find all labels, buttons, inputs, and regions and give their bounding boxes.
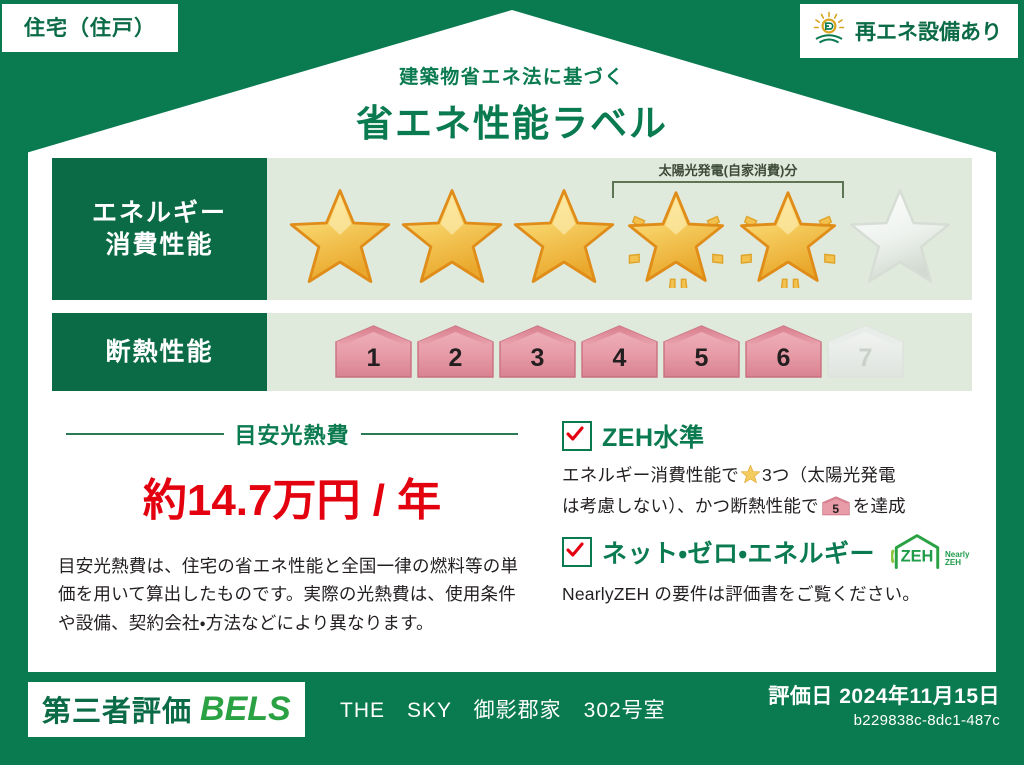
zeh-body-part1: エネルギー消費性能で [562, 465, 739, 485]
evaluation-id: b229838c-8dc1-487c [768, 712, 1000, 729]
evaluation-date: 評価日 2024年11月15日 [768, 680, 1000, 710]
star-rating [285, 170, 955, 288]
lower-content: 目安光熱費 約14.7万円 / 年 目安光熱費は、住宅の省エネ性能と全国一律の燃… [52, 418, 972, 637]
insulation-performance-row: 断熱性能 [52, 313, 972, 391]
bels-logo: 第三者評価 BELS [28, 682, 305, 737]
star-6-empty [845, 184, 955, 288]
check-icon [562, 421, 592, 451]
insulation-grade-7-number: 7 [826, 344, 905, 373]
star-4-filled-solar [621, 184, 731, 288]
zeh-nearly-logo: ZEH Nearly ZEH [891, 533, 969, 571]
cost-heading-label: 目安光熱費 [235, 418, 350, 450]
bels-jp-label: 第三者評価 [42, 688, 192, 730]
insulation-grade-6: 6 [744, 324, 823, 380]
insulation-grade-7-inactive: 7 [826, 324, 905, 380]
footer: 第三者評価 BELS THE SKY 御影郡家 302号室 評価日 2024年1… [0, 672, 1024, 765]
cost-value: 約14.7万円 / 年 [52, 464, 532, 528]
zeh-standard-body: エネルギー消費性能で 3つ（太陽光発電 は考慮しない）、かつ断熱性能で 5 を達… [562, 461, 972, 521]
label-frame: 住宅（住戸） 再エネ設備あり 建築 [0, 0, 1024, 765]
inline-house-badge-icon: 5 [822, 496, 850, 516]
insulation-grade-4-number: 4 [580, 344, 659, 373]
housing-type-tag: 住宅（住戸） [2, 4, 178, 52]
zeh-logo-sub: Nearly ZEH [945, 551, 969, 571]
renewable-badge-label: 再エネ設備あり [855, 16, 1002, 46]
insulation-grade-5-number: 5 [662, 344, 741, 373]
energy-stars-area: 太陽光発電(自家消費)分 [267, 158, 972, 300]
cost-heading-rule-right [361, 433, 519, 435]
label-subtitle: 建築物省エネ法に基づく [0, 62, 1024, 89]
net-zero-title: ネット・ゼロ・エネルギー [602, 534, 875, 570]
insulation-grade-3: 3 [498, 324, 577, 380]
insulation-performance-label: 断熱性能 [52, 313, 267, 391]
evaluation-info: 評価日 2024年11月15日 b229838c-8dc1-487c [768, 680, 1000, 729]
building-name: THE SKY 御影郡家 302号室 [340, 694, 666, 724]
zeh-body-part2: は考慮しない）、かつ断熱性能で [562, 496, 819, 516]
net-zero-heading: ネット・ゼロ・エネルギー ZEH Nearly ZEH [562, 533, 972, 571]
insulation-grade-5: 5 [662, 324, 741, 380]
page-title: 省エネ性能ラベル [0, 93, 1024, 147]
net-zero-body: NearlyZEH の要件は評価書をご覧ください。 [562, 580, 972, 608]
star-5-filled-solar [733, 184, 843, 288]
net-zero-energy-item: ネット・ゼロ・エネルギー ZEH Nearly ZEH NearlyZEH [562, 533, 972, 608]
star-2-filled [397, 184, 507, 288]
insulation-grade-3-number: 3 [498, 344, 577, 373]
energy-performance-row: エネルギー 消費性能 [52, 158, 972, 300]
insulation-grade-2-number: 2 [416, 344, 495, 373]
insulation-grade-4: 4 [580, 324, 659, 380]
inline-star-icon [740, 464, 761, 492]
insulation-grade-6-number: 6 [744, 344, 823, 373]
zeh-standard-item: ZEH水準 エネルギー消費性能で 3つ（太陽光発電 は考慮しない）、かつ断熱性能… [562, 418, 972, 521]
rating-rows: エネルギー 消費性能 [52, 158, 972, 404]
title-block: 建築物省エネ法に基づく 省エネ性能ラベル [0, 62, 1024, 147]
energy-performance-label: エネルギー 消費性能 [52, 158, 267, 300]
cost-note: 目安光熱費は、住宅の省エネ性能と全国一律の燃料等の単価を用いて算出したものです。… [52, 552, 532, 637]
zeh-standard-heading: ZEH水準 [562, 418, 972, 454]
check-icon [562, 537, 592, 567]
bels-en-label: BELS [200, 690, 291, 729]
housing-type-label: 住宅（住戸） [24, 17, 156, 40]
svg-text:ZEH: ZEH [901, 547, 934, 565]
zeh-body-stars: 3つ（太陽光発電 [762, 465, 896, 485]
cost-column: 目安光熱費 約14.7万円 / 年 目安光熱費は、住宅の省エネ性能と全国一律の燃… [52, 418, 532, 637]
solar-sun-icon [812, 11, 846, 50]
zeh-standard-title: ZEH水準 [602, 418, 705, 454]
insulation-grade-2: 2 [416, 324, 495, 380]
insulation-grade-1: 1 [334, 324, 413, 380]
insulation-grades-area: 1 2 3 [267, 313, 972, 391]
renewable-equipment-badge: 再エネ設備あり [800, 4, 1018, 58]
inline-house-grade: 5 [822, 500, 850, 519]
zeh-body-part3: を達成 [853, 496, 906, 516]
insulation-grade-scale: 1 2 3 [334, 324, 905, 380]
certification-column: ZEH水準 エネルギー消費性能で 3つ（太陽光発電 は考慮しない）、かつ断熱性能… [532, 418, 972, 637]
cost-heading-rule-left [66, 433, 224, 435]
star-1-filled [285, 184, 395, 288]
insulation-grade-1-number: 1 [334, 344, 413, 373]
cost-heading: 目安光熱費 [52, 418, 532, 450]
star-3-filled [509, 184, 619, 288]
